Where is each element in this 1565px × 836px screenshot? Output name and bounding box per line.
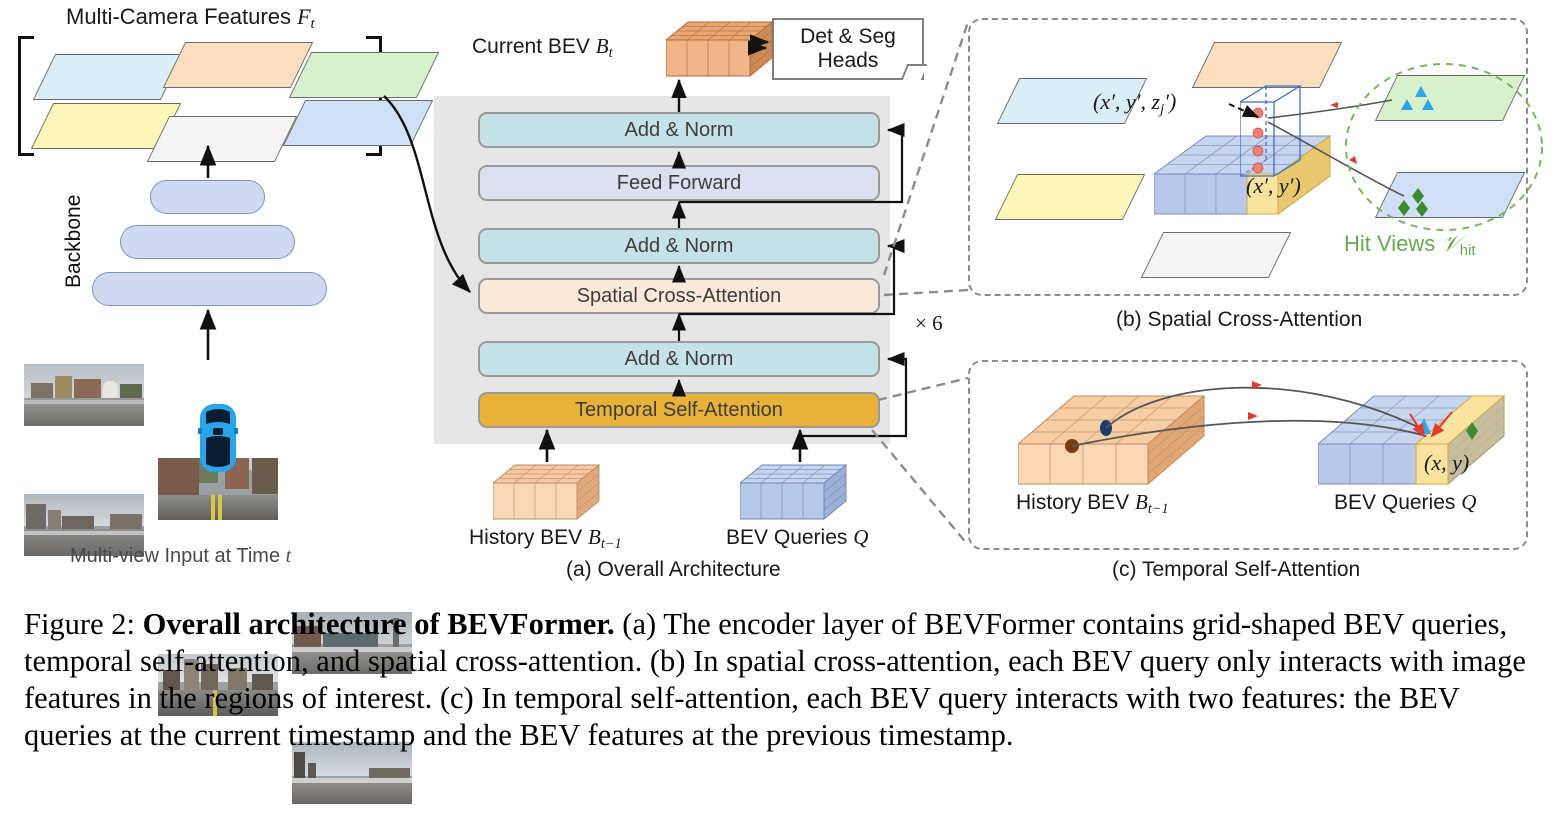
bev-queries-label-c: BEV Queries Q [1334,490,1476,515]
multi-camera-features-title: Multi-Camera Features Ft [66,4,315,33]
cam-feature-plane-2 [163,42,313,88]
ego-vehicle-icon [196,402,240,479]
bev-queries-cube-a [740,461,848,532]
temporal-self-attention[interactable]: Temporal Self-Attention [478,392,880,428]
cam-feature-plane-5 [147,116,297,162]
panel-a-caption: (a) Overall Architecture [566,558,781,582]
hit-view-triangle-markers [1400,86,1460,125]
panel-c-caption: (c) Temporal Self-Attention [1112,558,1360,582]
features-bracket-left [18,36,34,156]
doc-fold-corner [901,64,927,80]
b-plane-yellow [995,174,1145,220]
bev-queries-label-a: BEV Queries Q [726,525,868,550]
cam-feature-plane-3 [289,52,439,98]
multi-view-input-caption: Multi-view Input at Time t [70,545,291,568]
backbone-bar-top [150,180,265,214]
grid-coordinate-label-c: (x, y) [1424,450,1469,476]
camera-thumb-front-left [24,364,144,426]
feed-forward[interactable]: Feed Forward [478,165,880,201]
cam-feature-plane-6 [283,100,433,146]
panel-b-caption: (b) Spatial Cross-Attention [1116,308,1362,332]
history-bev-label-a: History BEV Bt−1 [469,525,622,553]
caption-bold: Overall architecture of BEVFormer. [143,607,615,641]
backbone-label: Backbone [62,195,86,288]
current-bev-cube [666,18,774,89]
spatial-cross-attention[interactable]: Spatial Cross-Attention [478,278,880,314]
hit-views-label: Hit Views 𝒱hit [1344,231,1476,259]
current-bev-label: Current BEV Bt [472,34,613,62]
add-norm-1[interactable]: Add & Norm [478,341,880,377]
backbone-bar-mid [120,225,295,259]
repeat-x6-label: × 6 [915,311,943,336]
heads-line-2: Heads [800,49,896,73]
history-bev-label-c: History BEV Bt−1 [1016,490,1169,518]
pillar-coordinate-label: (x′, y′, zj′) [1093,89,1176,118]
grid-coordinate-label-b: (x′, y′) [1246,173,1301,199]
heads-line-1: Det & Seg [800,25,896,49]
hit-view-diamond-markers [1396,186,1456,227]
figure-caption: Figure 2: Overall architecture of BEVFor… [24,606,1544,754]
caption-prefix: Figure 2: [24,607,135,641]
add-norm-2[interactable]: Add & Norm [478,228,880,264]
add-norm-3[interactable]: Add & Norm [478,112,880,148]
det-seg-heads-box[interactable]: Det & Seg Heads [772,18,924,80]
b-plane-peach [1192,42,1342,88]
history-bev-cube-a [493,461,601,532]
cam-feature-plane-1 [33,54,183,100]
figure-root: Multi-Camera Features Ft Backbone [0,0,1565,836]
backbone-bar-bottom [92,272,327,306]
